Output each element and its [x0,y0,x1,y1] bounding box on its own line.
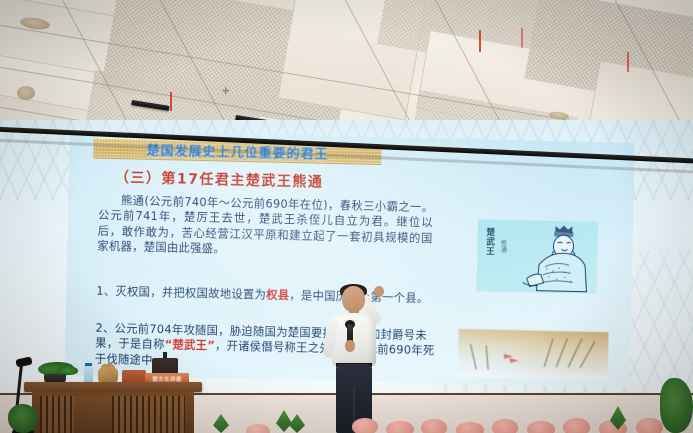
portrait-label-main: 楚武王 [484,227,495,273]
decorative-flower [246,424,270,433]
point-text-before: 灭权国，并把权国故地设置为 [115,285,266,301]
sprinkler-pipe [170,92,172,111]
decorative-flower [636,418,663,433]
potted-plant-left [8,404,38,433]
sprinkler-pipe [521,28,523,48]
decorative-flower [527,421,555,433]
point-number: 2、 [95,322,114,335]
table-lattice [40,396,185,433]
presenter-left-hand [345,340,355,352]
stage-table: 楚文化讲座 [18,352,208,433]
sprinkler-pipe [479,30,481,52]
sprinkler-pipe [627,52,629,72]
photo-scene: ✛ ✛ ✛ 楚国发展史上几位重要的君王 （三）第17任君主楚武王熊通 熊通(公元… [0,0,693,433]
microphone-stand-head [15,356,32,367]
slide-paragraph: 熊通(公元前740年～公元前690年在位)，春秋三小霸之一。公元前741年，楚厉… [97,193,433,262]
decorative-flower [563,418,590,433]
slide-portrait-image: 楚武王 熊通 [476,219,598,294]
presenter [324,284,386,433]
point-highlight: 权县 [266,288,289,302]
decorative-flower [492,419,518,433]
potted-plant-right [660,378,693,433]
portrait-label-sub: 熊通 [499,240,507,266]
decorative-flower [456,422,484,433]
slide-battle-image [457,329,608,380]
decorative-flower [386,421,414,433]
table-center-panel [74,396,112,433]
decorative-flower [352,418,378,433]
table-top [24,382,202,392]
decorative-flower [421,419,447,433]
presenter-right-hand [374,286,384,297]
ceiling-marker: ✛ [222,88,230,97]
point-highlight: “楚武王” [165,339,216,353]
ceiling-vent [17,86,35,100]
point-number: 1、 [96,285,115,298]
